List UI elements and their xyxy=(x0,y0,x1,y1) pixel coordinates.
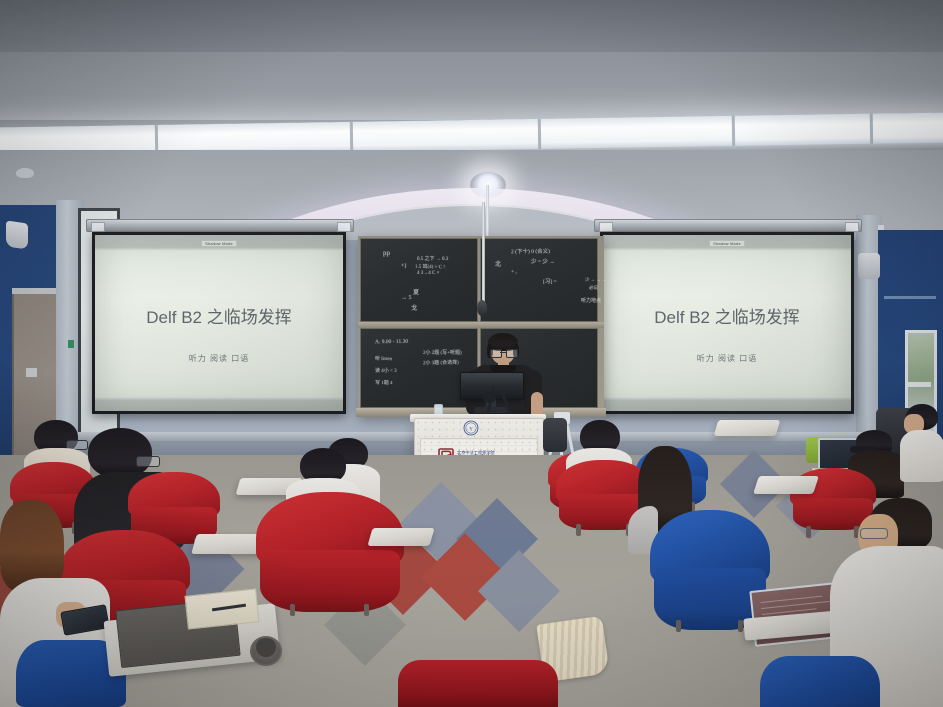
student-2-hair xyxy=(88,428,152,478)
right-wall-trim xyxy=(884,296,936,299)
office-chair-near-podium[interactable] xyxy=(543,418,567,452)
left-exit-sign xyxy=(68,340,74,348)
chalk-text: 1.5 耳(4) = C ! xyxy=(415,263,445,270)
left-projection-screen[interactable]: Shadow Mode Delf B2 之临场发挥 听力 阅读 口语 xyxy=(92,232,346,414)
chair-red-center-front[interactable] xyxy=(256,492,404,612)
slide-badge: Shadow Mode xyxy=(709,240,745,247)
svg-text:Y: Y xyxy=(469,427,473,432)
chalk-text: 读 4小 < 3 xyxy=(375,367,397,374)
student-10-body xyxy=(900,430,943,482)
chalk-text: → 5 xyxy=(401,295,412,301)
tablet-desk-center[interactable] xyxy=(367,528,434,546)
chalk-text: 少 = 少 → xyxy=(531,257,555,265)
chalk-text: 2小 2题 (写+听题) xyxy=(423,349,462,356)
student-8-glasses-icon xyxy=(860,528,888,539)
right-speaker-icon xyxy=(858,253,880,279)
slide-subtitle: 听力 阅读 口语 xyxy=(603,353,851,364)
lecture-hall-photo: Shadow Mode Delf B2 之临场发挥 听力 阅读 口语 Shado… xyxy=(0,0,943,707)
chalk-text: 2 (下十) 0 (合义) xyxy=(511,247,550,256)
student-10 xyxy=(900,404,943,484)
slide-title: Delf B2 之临场发挥 xyxy=(603,303,851,328)
blackboard-panel-top-right: 2 (下十) 0 (合义)北少 = 少 →+ ,[习] =少 → → →必记听力… xyxy=(480,238,598,322)
chalk-text: 2小 3题 (合选择) xyxy=(423,359,459,366)
tablet-desk-back-right[interactable] xyxy=(753,476,819,494)
chalk-text: 少 → → → xyxy=(585,277,606,283)
door-push-plate[interactable] xyxy=(26,368,37,377)
tablet-desk-mid-center[interactable] xyxy=(714,420,781,436)
smoke-detector-icon xyxy=(16,168,34,178)
chalk-text: 戈 xyxy=(411,303,417,312)
right-window-mullion xyxy=(905,382,931,387)
slide-badge: Shadow Mode xyxy=(201,240,237,247)
left-screen-housing xyxy=(86,219,354,232)
right-screen-housing xyxy=(594,219,862,232)
chalk-text: [习] = xyxy=(543,277,557,285)
chair-blue-far-right[interactable] xyxy=(760,656,880,707)
chair-red-foreground[interactable] xyxy=(398,660,558,707)
chalk-text: 听力地点 xyxy=(581,297,601,304)
presenter-glasses-icon xyxy=(490,349,516,356)
door-closer xyxy=(12,288,56,294)
chalk-text: 夏 xyxy=(413,287,419,296)
chalk-text: pp xyxy=(383,249,390,257)
right-projection-screen[interactable]: Shadow Mode Delf B2 之临场发挥 听力 阅读 口语 xyxy=(600,232,854,414)
podium-microphone-icon xyxy=(483,392,496,403)
cup-holder[interactable] xyxy=(250,636,282,666)
left-screen-surface: Shadow Mode Delf B2 之临场发挥 听力 阅读 口语 xyxy=(95,235,343,411)
blackboard-mid-rail xyxy=(358,322,604,328)
left-speaker-icon xyxy=(6,220,28,249)
student-2-glasses-icon xyxy=(136,456,160,467)
chalk-text: 听 listen xyxy=(375,355,392,362)
slide-subtitle: 听力 阅读 口语 xyxy=(95,353,343,364)
chalk-text: 北 xyxy=(495,259,501,268)
chalk-text: 0.5 之下 → 0.3 xyxy=(417,255,448,262)
chalk-text: 写 1题 4 xyxy=(375,379,393,386)
ceiling-shadow xyxy=(0,0,943,52)
university-crest-icon: Y xyxy=(456,420,486,436)
ceiling-microphone-rod xyxy=(482,202,485,306)
chalk-text: 必记 xyxy=(589,285,598,291)
chalk-text: +) xyxy=(401,263,406,269)
ceiling-microphone-icon xyxy=(477,300,487,316)
slide-title: Delf B2 之临场发挥 xyxy=(95,303,343,328)
chalk-text: A. 9.00 - 11.30 xyxy=(375,339,408,345)
blackboard-panel-top-left: pp0.5 之下 → 0.31.5 耳(4) = C !+)4 3→4 C ×夏… xyxy=(360,238,478,322)
chalk-text: + , xyxy=(511,269,517,275)
podium-monitor-base xyxy=(474,407,508,413)
right-screen-surface: Shadow Mode Delf B2 之临场发挥 听力 阅读 口语 xyxy=(603,235,851,411)
chalk-text: 4 3→4 C × xyxy=(417,271,439,276)
